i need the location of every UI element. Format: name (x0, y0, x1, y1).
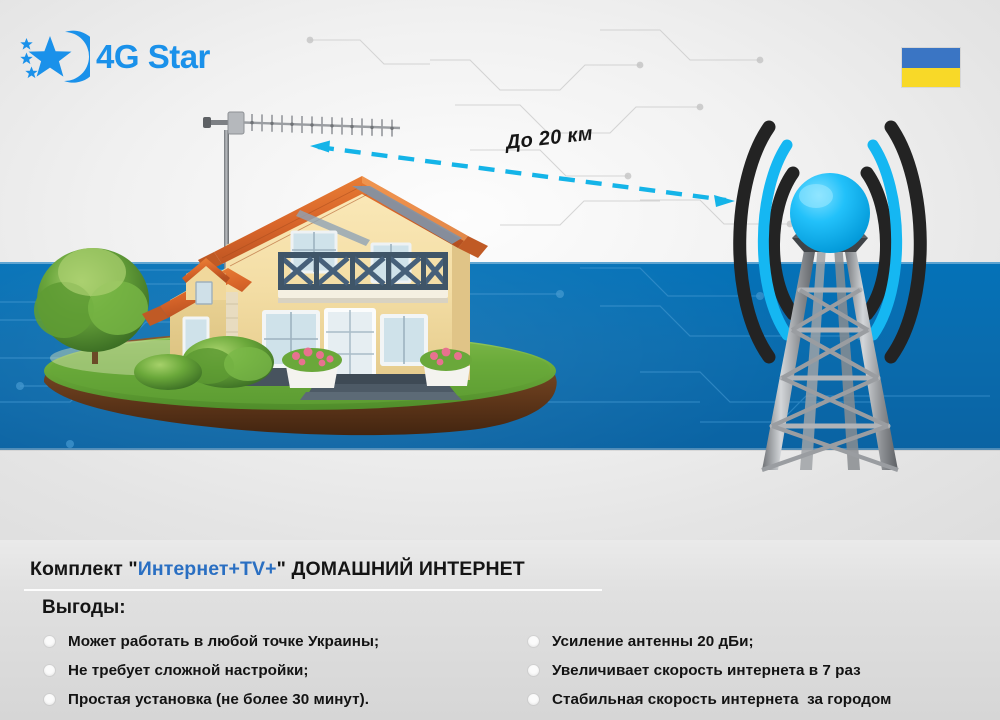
list-item: Усиление антенны 20 дБи; (528, 629, 988, 654)
kit-title-accent: Интернет+TV+ (138, 558, 277, 580)
list-item-label: Усиление антенны 20 дБи; (552, 633, 754, 650)
list-item: Простая установка (не более 30 минут). (44, 687, 514, 712)
benefits-list-left: Может работать в любой точке Украины; Не… (44, 629, 514, 712)
kit-title-prefix: Комплект " (30, 558, 138, 580)
list-item: Увеличивает скорость интернета в 7 раз (528, 658, 988, 683)
list-item-label: Увеличивает скорость интернета в 7 раз (552, 662, 861, 679)
ukraine-flag-icon (902, 48, 960, 87)
bullet-dot-icon (44, 665, 55, 676)
list-item: Не требует сложной настройки; (44, 658, 514, 683)
bullet-dot-icon (528, 636, 539, 647)
title-divider (24, 589, 602, 591)
list-item-label: Может работать в любой точке Украины; (68, 633, 379, 650)
star-crescent-logo-icon (18, 28, 90, 86)
list-item-label: Стабильная скорость интернета за городом (552, 691, 891, 708)
bullet-dot-icon (528, 665, 539, 676)
list-item: Может работать в любой точке Украины; (44, 629, 514, 654)
brand-logo[interactable]: 4G Star (18, 26, 268, 88)
bullet-dot-icon (44, 694, 55, 705)
benefits-heading: Выгоды: (42, 597, 126, 619)
blue-band (0, 262, 1000, 450)
bullet-dot-icon (528, 694, 539, 705)
list-item: Стабильная скорость интернета за городом (528, 687, 988, 712)
promo-poster: 4G Star (0, 0, 1000, 720)
benefits-list-right: Усиление антенны 20 дБи; Увеличивает ско… (528, 629, 988, 712)
bullet-dot-icon (44, 636, 55, 647)
brand-logo-text: 4G Star (96, 38, 210, 76)
info-panel: Комплект "Интернет+TV+" ДОМАШНИЙ ИНТЕРНЕ… (0, 540, 1000, 720)
kit-title-suffix: " ДОМАШНИЙ ИНТЕРНЕТ (277, 558, 525, 580)
band-edge-bottom (0, 448, 1000, 451)
band-edge-top (0, 262, 1000, 264)
kit-title: Комплект "Интернет+TV+" ДОМАШНИЙ ИНТЕРНЕ… (30, 558, 525, 581)
distance-label: До 20 км (505, 123, 594, 155)
list-item-label: Простая установка (не более 30 минут). (68, 691, 369, 708)
list-item-label: Не требует сложной настройки; (68, 662, 309, 679)
